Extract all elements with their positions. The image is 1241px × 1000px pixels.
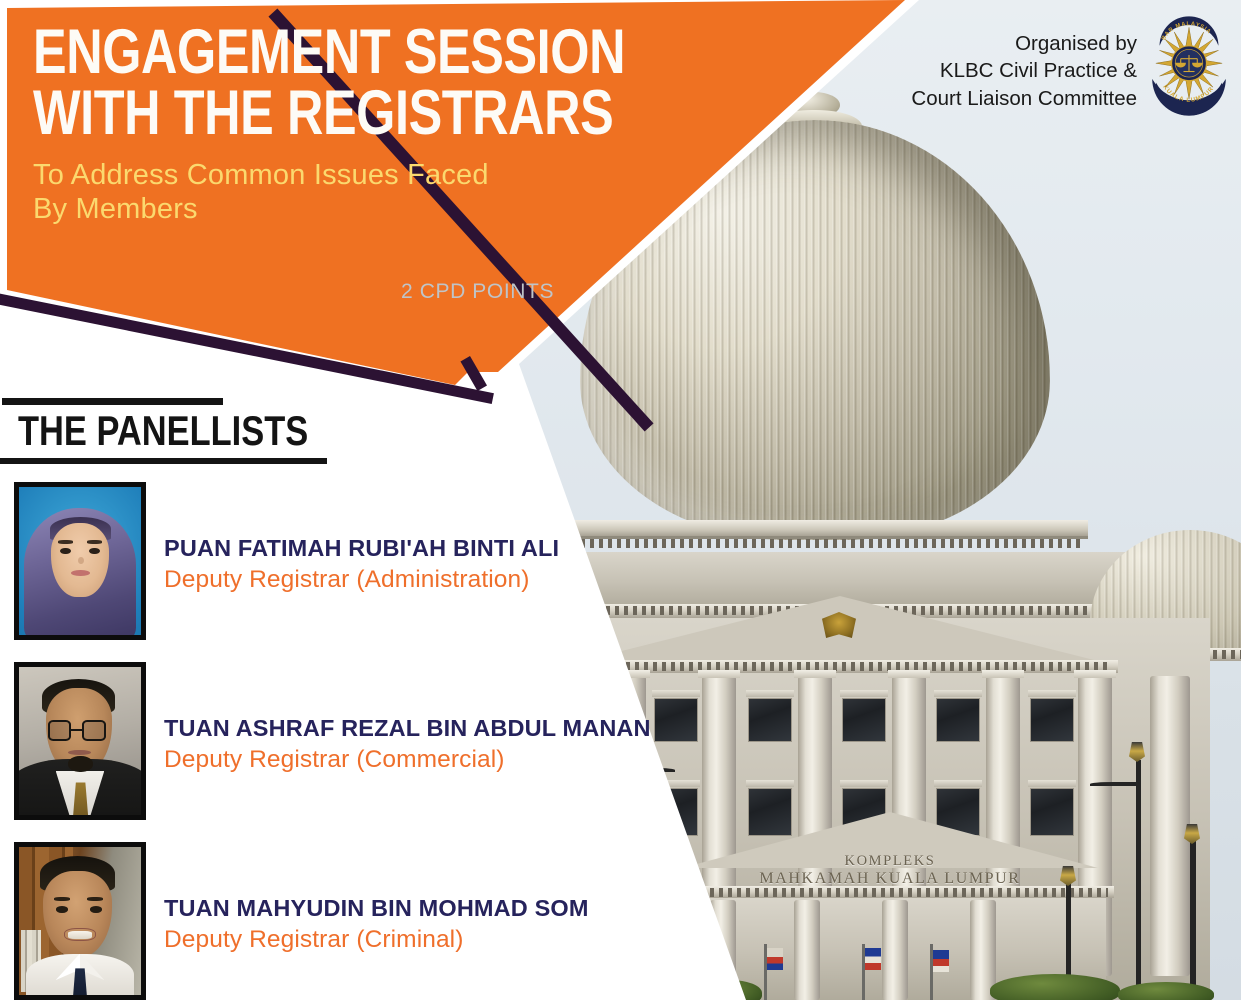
organiser-line-2: KLBC Civil Practice &: [911, 57, 1137, 84]
panellist-title: Deputy Registrar (Commercial): [164, 745, 651, 776]
panellists-heading: THE PANELLISTS: [18, 410, 308, 452]
eyebrow-left: [58, 540, 73, 543]
subtitle-line-2: By Members: [33, 192, 673, 226]
column-capital: [982, 670, 1024, 678]
flag-cloth: [767, 948, 783, 970]
goatee: [68, 756, 94, 772]
eyebrow-right: [87, 540, 102, 543]
organiser-line-3: Court Liaison Committee: [911, 85, 1137, 112]
panellist-photo-3: [14, 842, 146, 1000]
portico-column: [794, 900, 820, 1000]
facade-window: [842, 698, 886, 742]
column-capital: [794, 670, 836, 678]
street-lamp-post: [1190, 840, 1196, 1000]
panellist-text-1: PUAN FATIMAH RUBI'AH BINTI ALI Deputy Re…: [164, 534, 559, 596]
organiser-line-1: Organised by: [911, 30, 1137, 57]
eye-left: [56, 906, 68, 913]
window-hood: [1028, 690, 1076, 697]
portico-column: [882, 900, 908, 1000]
panellist-name: TUAN MAHYUDIN BIN MOHMAD SOM: [164, 894, 589, 922]
pediment-inscription-line1: KOMPLEKS: [682, 853, 1098, 870]
shrubbery: [1118, 982, 1214, 1000]
window-hood: [934, 780, 982, 787]
panellist-title: Deputy Registrar (Criminal): [164, 925, 589, 956]
panellist-text-3: TUAN MAHYUDIN BIN MOHMAD SOM Deputy Regi…: [164, 894, 589, 956]
subtitle-block: To Address Common Issues Faced By Member…: [33, 158, 673, 226]
window-hood: [746, 690, 794, 697]
lips: [71, 570, 89, 576]
dome-base-cornice: [548, 520, 1088, 536]
street-lamp-post: [1136, 760, 1141, 1000]
facade-window: [748, 698, 792, 742]
nose: [78, 557, 84, 564]
window-hood: [746, 780, 794, 787]
eyebrow-right: [87, 897, 103, 900]
headline-block: ENGAGEMENT SESSION WITH THE REGISTRARS T…: [33, 22, 673, 227]
panellist-name: TUAN ASHRAF REZAL BIN ABDUL MANAN: [164, 714, 651, 742]
headline-line-1: ENGAGEMENT SESSION: [33, 22, 545, 83]
window-hood: [1028, 780, 1076, 787]
headline-line-2: WITH THE REGISTRARS: [33, 83, 545, 144]
eye-right: [90, 906, 102, 913]
poster-canvas: KOMPLEKS MAHKAMAH KUALA LUMPUR: [0, 0, 1241, 1000]
panellist-text-2: TUAN ASHRAF REZAL BIN ABDUL MANAN Deputy…: [164, 714, 651, 776]
facade-window: [936, 698, 980, 742]
eyeglass-lens-right: [82, 720, 105, 741]
klbc-bar-malaysia-seal-icon: KUALA LUMPUR BAR MALAYSIA: [1143, 14, 1235, 118]
subtitle-line-1: To Address Common Issues Faced: [33, 158, 673, 192]
window-hood: [840, 690, 888, 697]
eye-right: [89, 548, 100, 555]
organiser-block: Organised by KLBC Civil Practice & Court…: [911, 30, 1137, 112]
panellist-name: PUAN FATIMAH RUBI'AH BINTI ALI: [164, 534, 559, 562]
shrubbery: [990, 974, 1120, 1000]
dentil-band-dome: [554, 539, 1082, 548]
street-lamp-arm: [1090, 782, 1138, 786]
window-hood: [934, 690, 982, 697]
panellist-photo-1: [14, 482, 146, 640]
column-capital: [1074, 670, 1116, 678]
eyebrow-left: [54, 897, 70, 900]
facade-window: [654, 698, 698, 742]
face: [43, 871, 111, 957]
eyeglass-bridge: [71, 729, 82, 731]
column-capital: [888, 670, 930, 678]
panellists-rule-top: [2, 398, 223, 405]
panellist-photo-2: [14, 662, 146, 820]
dentil-band-portico: [674, 888, 1108, 897]
column-capital: [698, 670, 740, 678]
flag-cloth: [933, 950, 949, 972]
panellist-title: Deputy Registrar (Administration): [164, 565, 559, 596]
window-hood: [652, 690, 700, 697]
teeth: [68, 931, 92, 938]
dentil-band-pediment: [572, 662, 1112, 671]
window-hood: [840, 780, 888, 787]
facade-window: [1030, 698, 1074, 742]
flag-cloth: [865, 948, 881, 970]
facade-pilaster: [1150, 676, 1190, 976]
eyeglass-lens-left: [48, 720, 71, 741]
panellists-rule-bottom: [0, 458, 327, 464]
cpd-points-label: 2 CPD POINTS: [401, 280, 554, 304]
